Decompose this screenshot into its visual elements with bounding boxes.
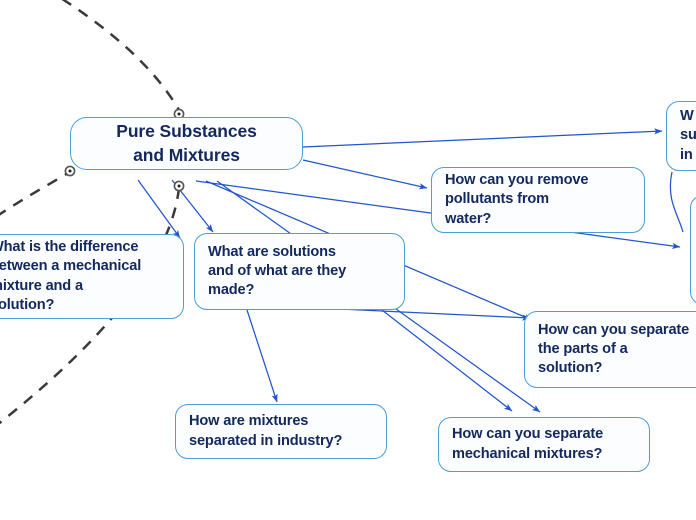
edge-to-difference [138, 180, 180, 238]
edge-solutions-to-separate-mech [382, 310, 512, 411]
node-difference-mechanical-solution[interactable]: What is the difference between a mechani… [0, 234, 184, 319]
target-marker-left [65, 166, 74, 175]
dashed-edges [0, 0, 179, 432]
node-remove-pollutants[interactable]: How can you remove pollutants from water… [431, 167, 645, 233]
edge-topright-to-right-clipped [670, 172, 683, 232]
node-label: What are solutions and of what are they … [195, 243, 404, 301]
central-node[interactable]: Pure Substances and Mixtures [70, 117, 303, 170]
node-top-right-clipped[interactable]: W su in [666, 101, 696, 171]
target-marker-bottom [174, 181, 183, 190]
node-separate-parts-solution[interactable]: How can you separate the parts of a solu… [524, 311, 696, 388]
node-right-edge-clipped[interactable] [690, 195, 696, 305]
node-label: How are mixtures separated in industry? [176, 412, 386, 451]
node-mixtures-separated-industry[interactable]: How are mixtures separated in industry? [175, 404, 387, 459]
node-separate-mechanical-mixtures[interactable]: How can you separate mechanical mixtures… [438, 417, 650, 472]
edge-to-remove-pollutants [303, 160, 427, 188]
central-node-label: Pure Substances and Mixtures [71, 120, 302, 166]
node-label: How can you remove pollutants from water… [432, 171, 644, 229]
node-label: W su in [667, 107, 696, 165]
mind-map-canvas: Pure Substances and Mixtures How can you… [0, 0, 696, 520]
node-label: How can you separate the parts of a solu… [525, 321, 696, 379]
node-label: How can you separate mechanical mixtures… [439, 425, 649, 464]
edge-to-top-right [303, 131, 662, 147]
dashed-edge-top [45, 0, 179, 110]
node-label: What is the difference between a mechani… [0, 238, 183, 315]
edge-solutions-to-industry [247, 310, 277, 402]
node-what-are-solutions[interactable]: What are solutions and of what are they … [194, 233, 405, 310]
dashed-edge-left [0, 172, 70, 228]
